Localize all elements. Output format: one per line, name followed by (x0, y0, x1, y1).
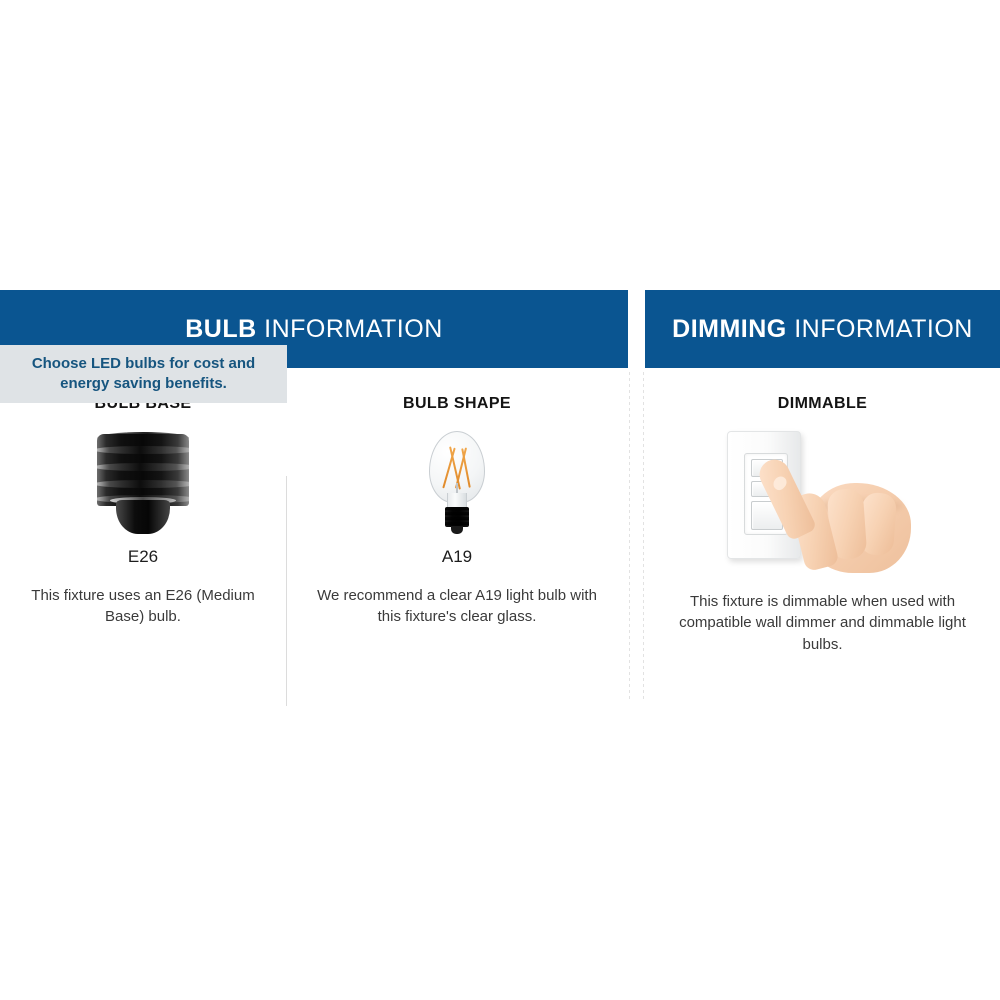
dimmable-description: This fixture is dimmable when used with … (645, 591, 1000, 655)
panel-separator-left (629, 372, 630, 700)
a19-light-bulb-icon (426, 431, 488, 535)
bulb-shape-column: BULB SHAPE A19 We recomm (286, 368, 628, 628)
led-tip-text: Choose LED bulbs for cost and energy sav… (0, 354, 287, 395)
dimming-information-header-text: DIMMING INFORMATION (672, 315, 973, 344)
dimmable-art-wrap (645, 423, 1000, 575)
bulb-information-panel: BULB INFORMATION BULB BASE (0, 290, 628, 628)
dimmable-title: DIMMABLE (645, 395, 1000, 413)
panel-separator-right (643, 372, 644, 700)
wall-dimmer-switch-icon (723, 427, 923, 575)
bulb-header-rest: INFORMATION (257, 315, 443, 343)
bulb-information-body: BULB BASE E26 Th (0, 368, 628, 628)
bulb-base-description: This fixture uses an E26 (Medium Base) b… (0, 585, 286, 628)
dimming-information-body: DIMMABLE (645, 368, 1000, 655)
bulb-shape-description: We recommend a clear A19 light bulb with… (286, 585, 628, 628)
dimming-information-panel: DIMMING INFORMATION DIMMABLE (645, 290, 1000, 655)
bulb-information-header-text: BULB INFORMATION (185, 315, 443, 344)
led-tip-box: Choose LED bulbs for cost and energy sav… (0, 345, 287, 403)
infographic-page: BULB INFORMATION BULB BASE (0, 0, 1000, 1000)
bulb-shape-label: A19 (286, 547, 628, 567)
bulb-base-column: BULB BASE E26 Th (0, 368, 286, 628)
bulb-shape-title: BULB SHAPE (286, 395, 628, 413)
dimming-header-strong: DIMMING (672, 315, 787, 343)
dimming-information-header: DIMMING INFORMATION (645, 290, 1000, 368)
hand-pressing-switch-icon (767, 441, 917, 575)
dimming-header-rest: INFORMATION (787, 315, 973, 343)
bulb-base-label: E26 (0, 547, 286, 567)
bulb-header-strong: BULB (185, 315, 256, 343)
dimmable-column: DIMMABLE (645, 368, 1000, 655)
e26-screw-base-icon (95, 434, 191, 535)
bulb-base-art-wrap (0, 423, 286, 535)
bulb-shape-art-wrap (286, 423, 628, 535)
